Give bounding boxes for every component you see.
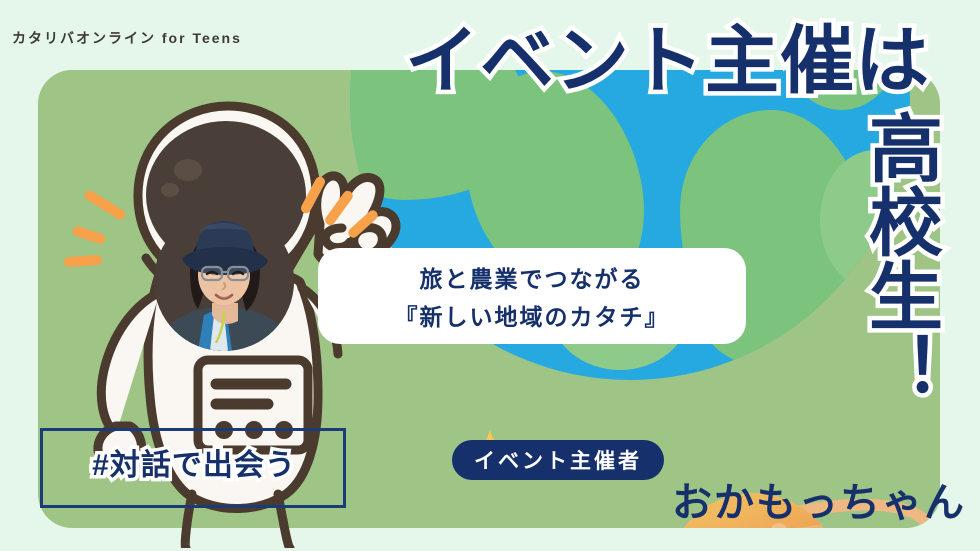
- hashtag-label: #対話で出会う: [64, 440, 324, 484]
- subtitle-line-2: 『新しい地域のカタチ』: [395, 298, 670, 332]
- speaker-portrait-photo: [154, 211, 294, 351]
- headline-secondary-vertical: 高校生！: [862, 110, 937, 406]
- subtitle-card: 旅と農業でつながる 『新しい地域のカタチ』: [318, 248, 746, 344]
- headline-primary: イベント主催は: [405, 24, 930, 98]
- subtitle-line-1: 旅と農業でつながる: [420, 260, 645, 294]
- speaker-name: おかもっちゃん: [672, 470, 966, 528]
- poster-canvas: カタリバオンライン for Teens: [0, 0, 980, 551]
- role-badge-label: イベント主催者: [474, 445, 642, 475]
- role-badge: イベント主催者: [452, 440, 664, 480]
- brand-label: カタリバオンライン for Teens: [12, 28, 242, 48]
